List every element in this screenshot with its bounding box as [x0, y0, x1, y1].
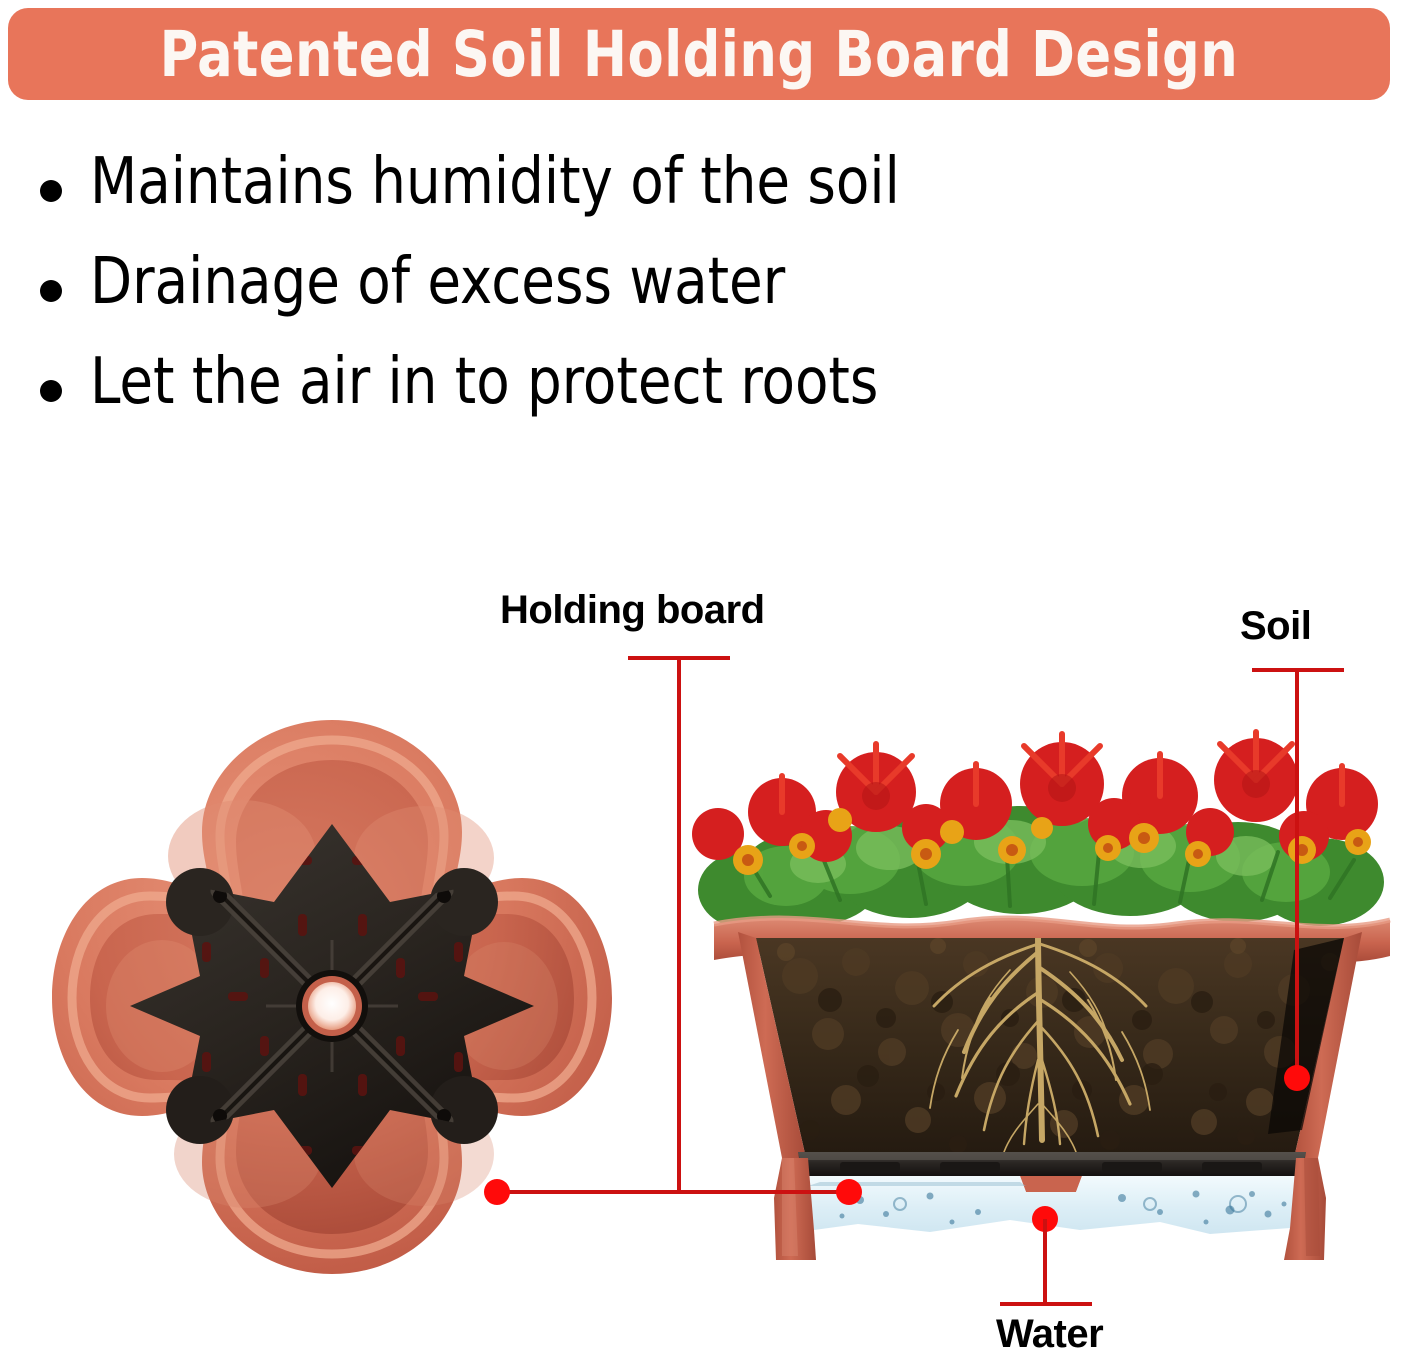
- planter-top-down-image: [52, 706, 612, 1286]
- soil-layer: [738, 932, 1362, 1158]
- feature-list: Maintains humidity of the soil Drainage …: [40, 150, 1140, 450]
- soil-holding-board: [130, 824, 534, 1188]
- leader-dot-soil: [1284, 1065, 1310, 1091]
- flower-foliage: [692, 732, 1384, 930]
- list-item-label: Maintains humidity of the soil: [90, 150, 900, 215]
- annotation-label-soil: Soil: [1240, 604, 1311, 649]
- page-title: Patented Soil Holding Board Design: [160, 23, 1239, 86]
- leader-line-water-vertical: [1043, 1219, 1047, 1304]
- leader-line-water-bottom: [1000, 1302, 1092, 1306]
- leader-line-holding-board-horizontal: [497, 1190, 849, 1194]
- list-item: Drainage of excess water: [40, 250, 1140, 350]
- annotation-label-holding-board: Holding board: [500, 588, 765, 633]
- header-banner: Patented Soil Holding Board Design: [8, 8, 1390, 100]
- list-item-label: Drainage of excess water: [90, 250, 785, 315]
- leader-dot-holding-board-left: [484, 1179, 510, 1205]
- annotation-label-water: Water: [996, 1312, 1103, 1357]
- list-item: Let the air in to protect roots: [40, 350, 1140, 450]
- leader-dot-holding-board-right: [836, 1179, 862, 1205]
- bullet-dot-icon: [40, 180, 62, 202]
- leader-line-soil-vertical: [1295, 668, 1299, 1078]
- leader-line-holding-board-vertical: [677, 656, 681, 1194]
- bullet-dot-icon: [40, 380, 62, 402]
- list-item-label: Let the air in to protect roots: [90, 350, 878, 415]
- bullet-dot-icon: [40, 280, 62, 302]
- list-item: Maintains humidity of the soil: [40, 150, 1140, 250]
